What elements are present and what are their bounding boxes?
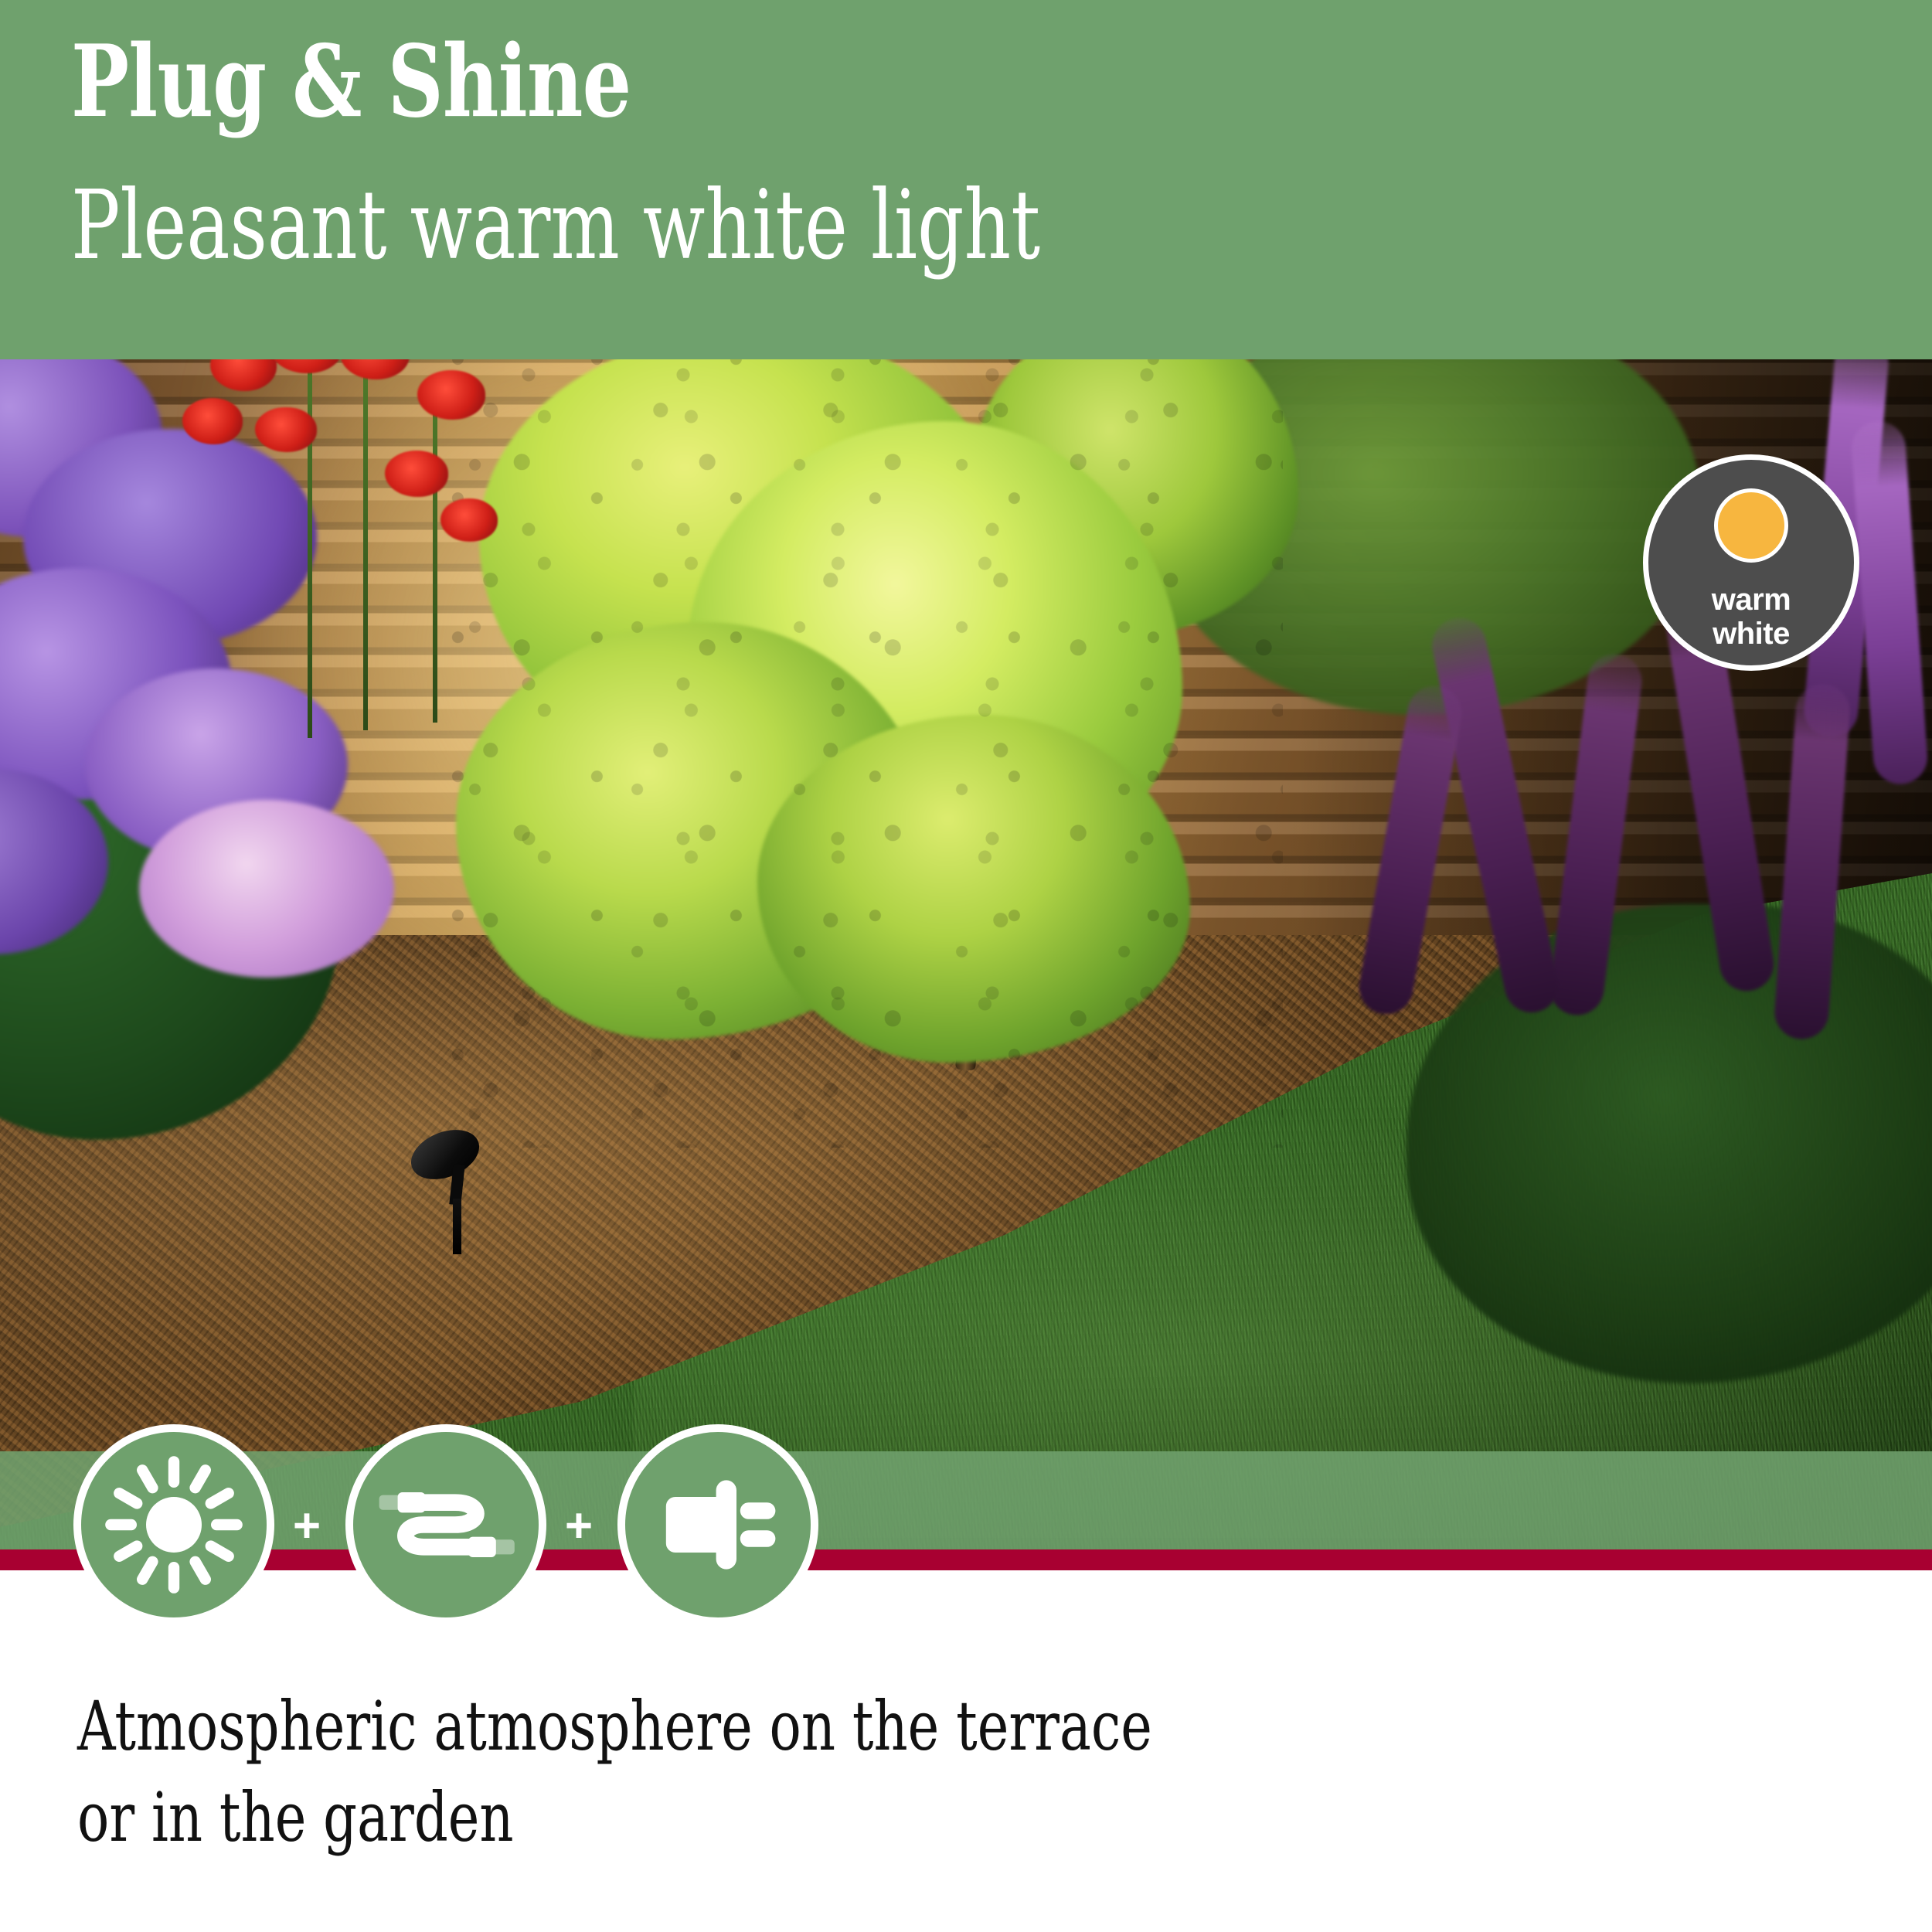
promo-card: Plug & Shine Pleasant warm white light xyxy=(0,0,1932,1932)
garden-photo xyxy=(0,359,1932,1569)
red-flower xyxy=(182,398,243,444)
red-flower xyxy=(417,370,485,420)
badge-label-line2: white xyxy=(1648,617,1854,650)
page-title: Plug & Shine xyxy=(71,32,631,131)
plus-separator-1: + xyxy=(290,1511,324,1545)
feature-circle-cable[interactable] xyxy=(345,1424,546,1625)
plug-icon xyxy=(625,1432,811,1617)
feature-icon-row: + + xyxy=(73,1424,1001,1625)
red-flower xyxy=(385,451,448,497)
caption-line-1: Atmospheric atmosphere on the terrace xyxy=(77,1681,1343,1772)
spotlight-fixture xyxy=(410,1132,495,1248)
warm-white-color-dot xyxy=(1714,488,1788,563)
caption-line-2: or in the garden xyxy=(77,1772,1343,1863)
feature-circle-light[interactable] xyxy=(73,1424,274,1625)
header-banner: Plug & Shine Pleasant warm white light xyxy=(0,0,1932,359)
warm-white-badge: warm white xyxy=(1643,454,1859,671)
badge-label-line1: warm xyxy=(1648,583,1854,616)
plus-separator-2: + xyxy=(562,1511,596,1545)
caption: Atmospheric atmosphere on the terrace or… xyxy=(77,1681,1343,1863)
red-flower xyxy=(255,407,317,452)
red-flower xyxy=(440,498,498,542)
feature-circle-plug[interactable] xyxy=(617,1424,818,1625)
cable-icon xyxy=(353,1432,539,1617)
leaf-texture xyxy=(433,359,1283,1148)
sun-icon xyxy=(81,1432,267,1617)
phlox-bloom-pink xyxy=(139,800,394,978)
page-subtitle: Pleasant warm white light xyxy=(71,178,1040,274)
illuminated-maple-tree xyxy=(433,359,1283,1148)
spotlight-ground-spike xyxy=(453,1199,461,1254)
